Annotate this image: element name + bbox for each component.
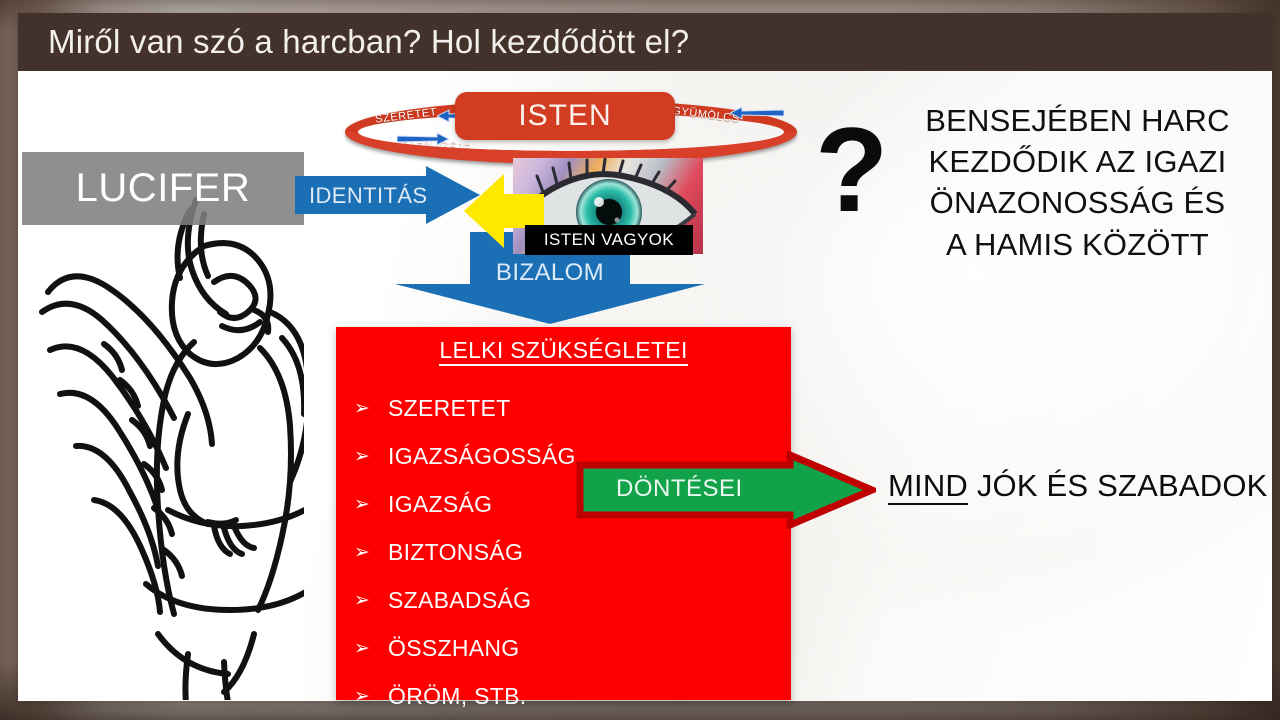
list-item: ➢ SZABADSÁG (336, 576, 791, 624)
decisions-arrow-label: DÖNTÉSEI (616, 475, 743, 503)
decisions-arrow: DÖNTÉSEI (576, 451, 876, 529)
isten-vagyok-label: ISTEN VAGYOK (544, 230, 674, 250)
list-item: ➢ ÖRÖM, STB. (336, 672, 791, 720)
inner-battle-line-1: BENSEJÉBEN HARC (890, 100, 1265, 141)
god-box: ISTEN (455, 92, 675, 140)
bullet-arrow-icon: ➢ (354, 685, 388, 708)
question-mark-icon: ? (815, 110, 888, 230)
list-item-label: SZERETET (388, 395, 511, 422)
inner-battle-text: BENSEJÉBEN HARC KEZDŐDIK AZ IGAZI ÖNAZON… (890, 100, 1265, 265)
inner-battle-line-4: A HAMIS KÖZÖTT (890, 224, 1265, 265)
bullet-arrow-icon: ➢ (354, 589, 388, 612)
spiritual-needs-list: ➢ SZERETET ➢ IGAZSÁGOSSÁG ➢ IGAZSÁG ➢ BI… (336, 384, 791, 720)
slide-title-bar: Miről van szó a harcban? Hol kezdődött e… (18, 13, 1272, 71)
page-title: Miről van szó a harcban? Hol kezdődött e… (18, 23, 689, 61)
decisions-result-rest: JÓK ÉS SZABADOK (968, 468, 1268, 503)
god-label: ISTEN (518, 99, 611, 133)
list-item: ➢ BIZTONSÁG (336, 528, 791, 576)
list-item-label: SZABADSÁG (388, 587, 531, 614)
lucifer-label: LUCIFER (76, 166, 251, 211)
identity-arrow-label: IDENTITÁS (309, 183, 428, 209)
decisions-result-emphasis: MIND (888, 468, 968, 505)
down-arrow-head (395, 284, 705, 324)
spiritual-needs-heading: LELKI SZÜKSÉGLETEI (336, 337, 791, 364)
down-arrow-label-bottom: BIZALOM (395, 259, 705, 287)
status-badge: ISTEN VAGYOK (525, 225, 693, 255)
bullet-arrow-icon: ➢ (354, 445, 388, 468)
list-item: ➢ SZERETET (336, 384, 791, 432)
inner-battle-line-2: KEZDŐDIK AZ IGAZI (890, 141, 1265, 182)
bullet-arrow-icon: ➢ (354, 493, 388, 516)
list-item-label: IGAZSÁG (388, 491, 492, 518)
bullet-arrow-icon: ➢ (354, 541, 388, 564)
decisions-result-text: MIND JÓK ÉS SZABADOK (888, 468, 1268, 504)
list-item-label: BIZTONSÁG (388, 539, 523, 566)
lucifer-label-band: LUCIFER (22, 152, 304, 225)
inner-battle-line-3: ÖNAZONOSSÁG ÉS (890, 182, 1265, 223)
bullet-arrow-icon: ➢ (354, 637, 388, 660)
spiritual-needs-heading-text: LELKI SZÜKSÉGLETEI (439, 337, 687, 366)
arrow-left-icon (730, 106, 784, 120)
list-item: ➢ ÖSSZHANG (336, 624, 791, 672)
identity-arrow: IDENTITÁS (295, 166, 480, 224)
list-item-label: IGAZSÁGOSSÁG (388, 443, 576, 470)
list-item-label: ÖSSZHANG (388, 635, 519, 662)
slide-stage: Miről van szó a harcban? Hol kezdődött e… (0, 0, 1280, 720)
list-item-label: ÖRÖM, STB. (388, 683, 526, 710)
bullet-arrow-icon: ➢ (354, 397, 388, 420)
